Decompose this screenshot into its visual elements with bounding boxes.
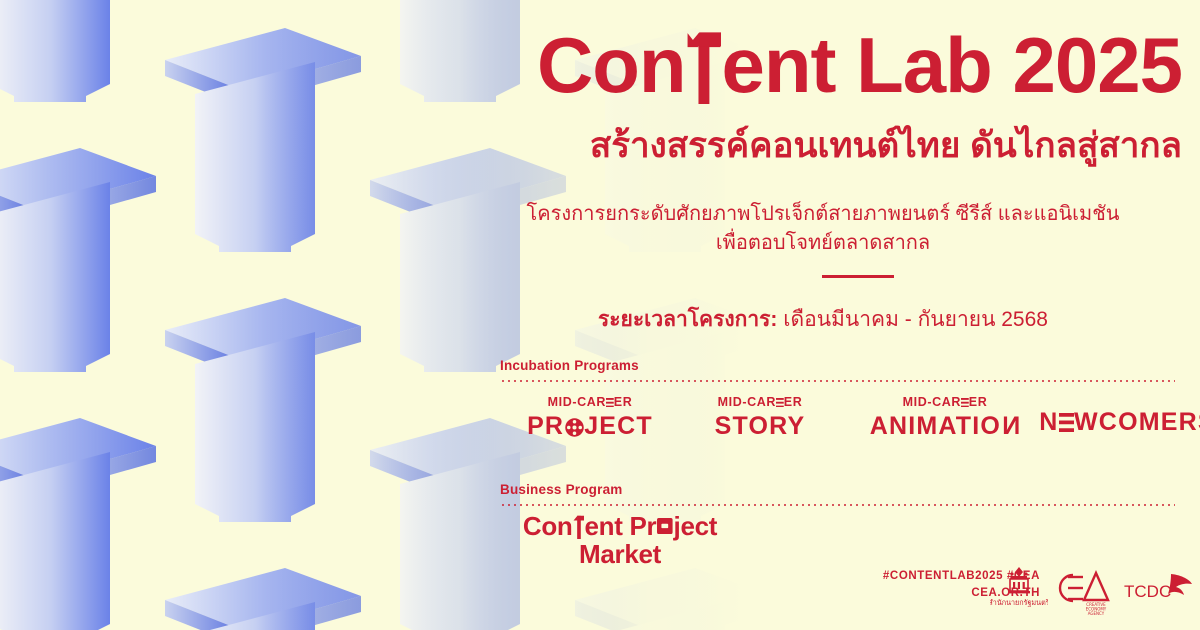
incubation-programs-row: MID-CARER PRJECT MID-CARER STORY MID-CAR… — [490, 396, 1190, 442]
program-kicker: MID-CARER — [670, 396, 850, 409]
description-line-1: โครงการยกระดับศักยภาพโปรเจ็กต์สายภาพยนตร… — [470, 200, 1176, 229]
incubation-dotted-divider — [500, 380, 1175, 382]
footer-logos: สำนักนายกรัฐมนตรี CREATIVE ECONOMY — [990, 564, 1195, 620]
title-part-1: Con — [537, 21, 686, 109]
title-part-2: ent Lab 2025 — [721, 21, 1182, 109]
program-name: STORY — [670, 414, 850, 439]
page-title: Conent Lab 2025 — [470, 26, 1182, 104]
page-subtitle: สร้างสรรค์คอนเทนต์ไทย ดันไกลสู่สากล — [470, 126, 1182, 166]
cea-logo: CREATIVE ECONOMY AGENCY — [1052, 564, 1114, 618]
stylized-e-icon — [961, 396, 969, 409]
gov-seal-caption: สำนักนายกรัฐมนตรี — [990, 598, 1048, 607]
stylized-e-icon — [606, 396, 614, 409]
stylized-e-icon — [776, 396, 784, 409]
tcdc-logo: TCDC — [1122, 564, 1194, 618]
program-kicker: MID-CARER — [840, 396, 1050, 409]
description-line-2: เพื่อตอบโจทย์ตลาดสากล — [470, 229, 1176, 258]
divider-rule — [822, 275, 894, 278]
project-period-value: เดือนมีนาคม - กันยายน 2568 — [783, 308, 1048, 331]
film-reel-icon — [564, 414, 584, 439]
content-project-market-logo[interactable]: Conent Prject Market — [500, 513, 740, 568]
program-name: ANIMATION — [840, 414, 1050, 439]
program-mid-career-project[interactable]: MID-CARER PRJECT — [500, 396, 680, 439]
poster-canvas: Conent Lab 2025 สร้างสรรค์คอนเทนต์ไทย ดั… — [0, 0, 1200, 630]
cea-sub-3: AGENCY — [1088, 611, 1105, 616]
program-name: PRJECT — [500, 414, 680, 439]
cpm-line-2: Market — [500, 541, 740, 569]
tcdc-swoosh-icon — [1168, 574, 1192, 595]
office-of-prime-minister-seal-logo: สำนักนายกรัฐมนตรี — [990, 564, 1048, 618]
business-dotted-divider — [500, 504, 1175, 506]
business-section-label: Business Program — [500, 482, 623, 497]
program-name: NWCOMERS — [1035, 410, 1200, 435]
project-period-label: ระยะเวลาโครงการ: — [598, 308, 777, 331]
program-kicker: MID-CARER — [500, 396, 680, 409]
program-newcomers[interactable]: NWCOMERS — [1035, 410, 1200, 435]
program-mid-career-animation[interactable]: MID-CARER ANIMATION — [840, 396, 1050, 439]
tcdc-wordmark: TCDC — [1124, 582, 1171, 601]
stylized-e-icon — [1059, 410, 1075, 435]
project-period: ระยะเวลาโครงการ: เดือนมีนาคม - กันยายน 2… — [470, 303, 1176, 336]
square-o-icon — [656, 513, 673, 539]
description: โครงการยกระดับศักยภาพโปรเจ็กต์สายภาพยนตร… — [470, 200, 1176, 258]
cpm-line-1: Conent Prject — [523, 511, 717, 541]
program-mid-career-story[interactable]: MID-CARER STORY — [670, 396, 850, 439]
incubation-section-label: Incubation Programs — [500, 358, 639, 373]
flipped-n-glyph: N — [1001, 414, 1020, 439]
